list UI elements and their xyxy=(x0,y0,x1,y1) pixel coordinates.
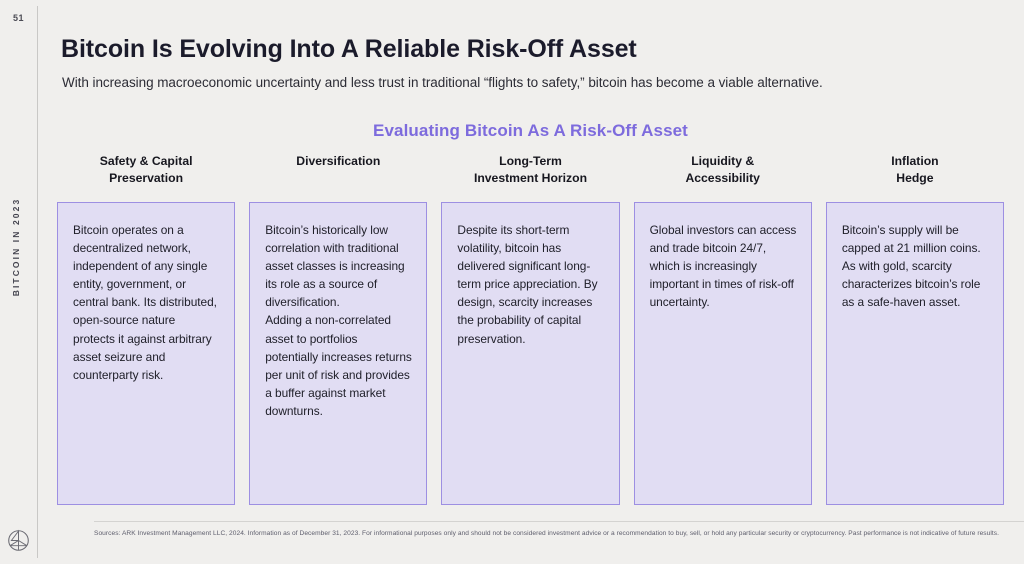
column-header: Inflation Hedge xyxy=(826,150,1004,202)
ark-circle-logo-icon xyxy=(7,529,30,552)
section-heading: Evaluating Bitcoin As A Risk-Off Asset xyxy=(37,121,1024,141)
criteria-column: Diversification Bitcoin’s historically l… xyxy=(249,150,427,505)
criteria-column: Safety & Capital Preservation Bitcoin op… xyxy=(57,150,235,505)
criteria-card: Bitcoin’s historically low correlation w… xyxy=(249,202,427,505)
card-body-text: Despite its short-term volatility, bitco… xyxy=(457,221,604,348)
card-body-text: Bitcoin operates on a decentralized netw… xyxy=(73,221,220,384)
page-title: Bitcoin Is Evolving Into A Reliable Risk… xyxy=(61,35,637,64)
column-header: Long-Term Investment Horizon xyxy=(441,150,619,202)
column-header: Diversification xyxy=(249,150,427,202)
column-header: Safety & Capital Preservation xyxy=(57,150,235,202)
slide-content: Bitcoin Is Evolving Into A Reliable Risk… xyxy=(37,0,1024,564)
deck-section-label: BITCOIN IN 2023 xyxy=(11,172,21,322)
page-subtitle: With increasing macroeconomic uncertaint… xyxy=(62,75,823,90)
criteria-columns: Safety & Capital Preservation Bitcoin op… xyxy=(57,150,1004,505)
page-number: 51 xyxy=(13,13,24,23)
criteria-card: Bitcoin operates on a decentralized netw… xyxy=(57,202,235,505)
card-body-text: Bitcoin’s historically low correlation w… xyxy=(265,221,412,420)
card-body-text: Global investors can access and trade bi… xyxy=(650,221,797,311)
criteria-column: Inflation Hedge Bitcoin’s supply will be… xyxy=(826,150,1004,505)
footer-divider xyxy=(94,521,1024,522)
criteria-card: Despite its short-term volatility, bitco… xyxy=(441,202,619,505)
left-rail: 51 BITCOIN IN 2023 xyxy=(0,0,37,564)
criteria-column: Long-Term Investment Horizon Despite its… xyxy=(441,150,619,505)
criteria-card: Global investors can access and trade bi… xyxy=(634,202,812,505)
card-body-text: Bitcoin’s supply will be capped at 21 mi… xyxy=(842,221,989,311)
criteria-card: Bitcoin’s supply will be capped at 21 mi… xyxy=(826,202,1004,505)
sources-note: Sources: ARK Investment Management LLC, … xyxy=(94,529,999,540)
criteria-column: Liquidity & Accessibility Global investo… xyxy=(634,150,812,505)
column-header: Liquidity & Accessibility xyxy=(634,150,812,202)
